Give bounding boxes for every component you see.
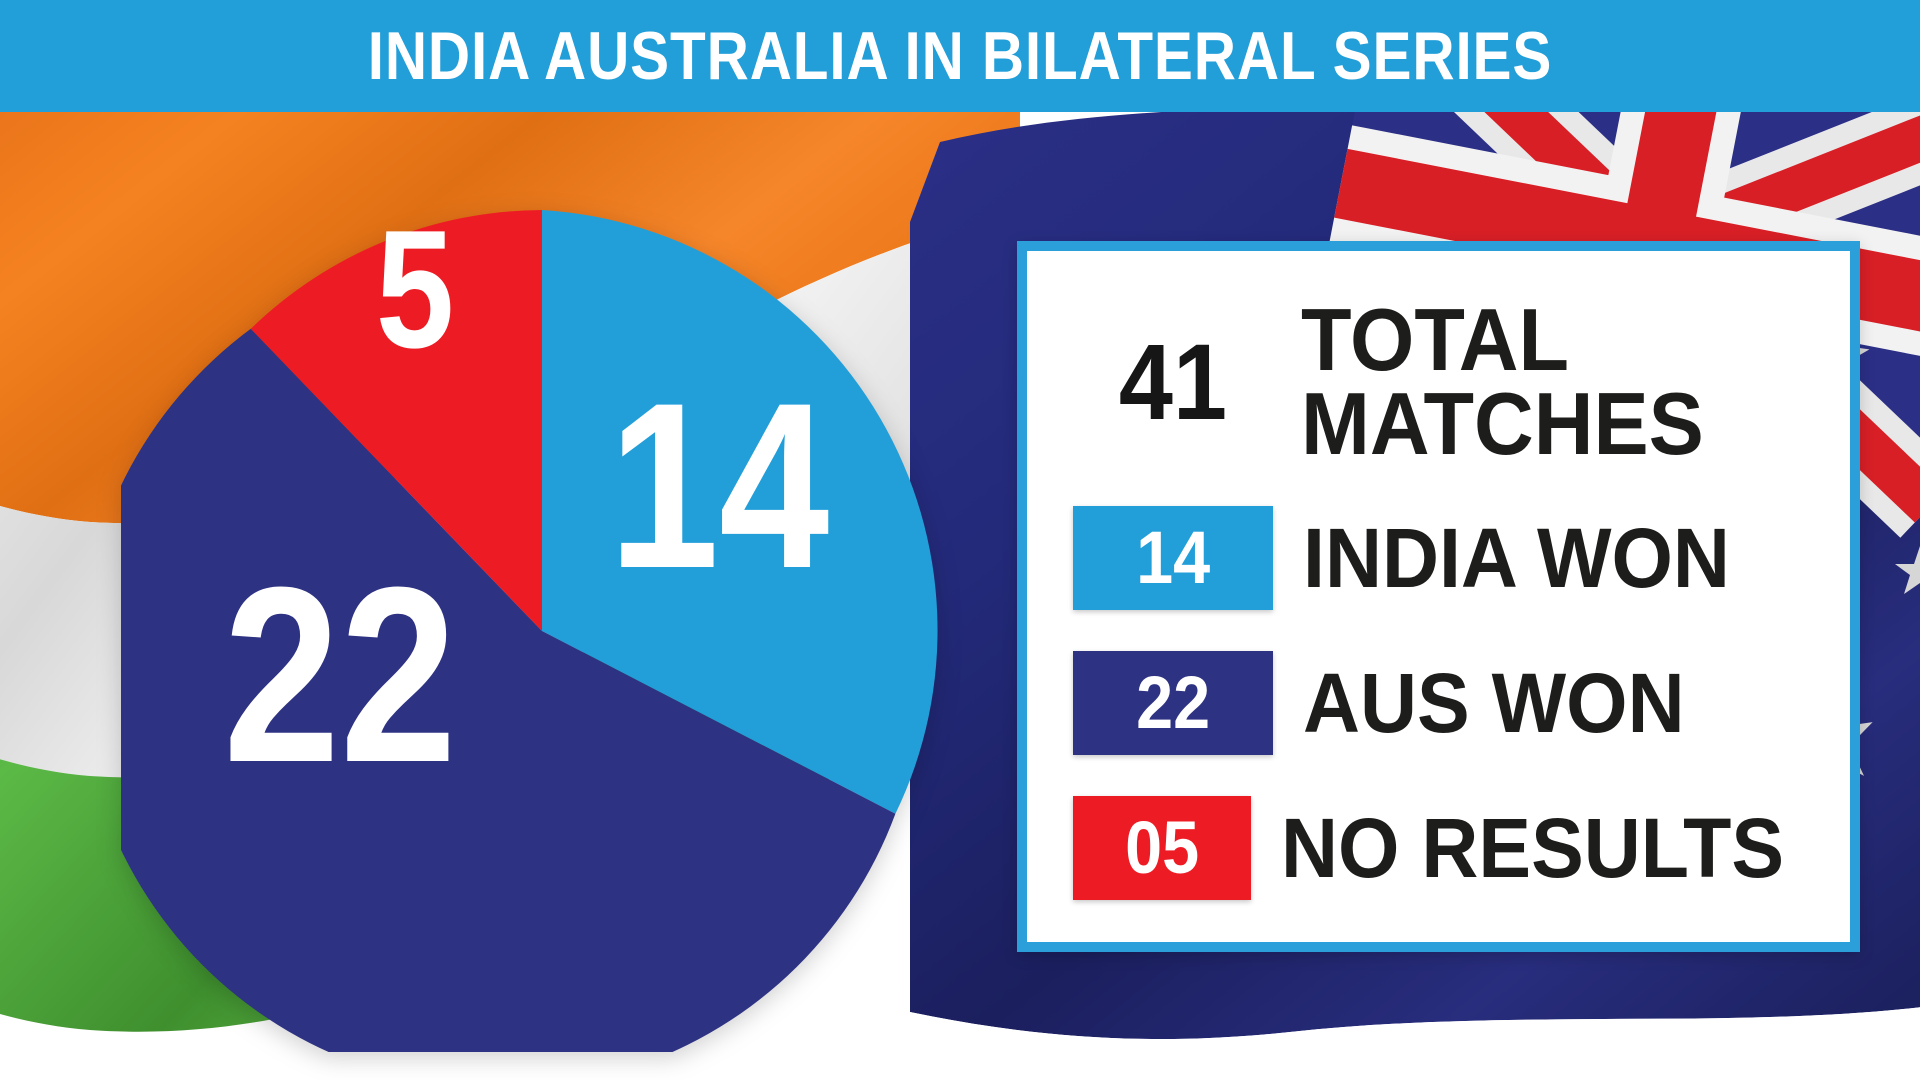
legend-row-no-results: 05 NO RESULTS [1073,775,1816,920]
legend-swatch-aus: 22 [1073,651,1273,755]
total-matches-label-line1: TOTAL [1301,298,1704,382]
page-title: INDIA AUSTRALIA IN BILATERAL SERIES [134,0,1785,112]
infographic-canvas: 14 22 5 41 TOTAL MATCHES 14 INDIA WON 22 [0,0,1920,1080]
legend-swatch-no-results: 05 [1073,796,1251,900]
total-matches-label: TOTAL MATCHES [1301,298,1704,465]
legend-swatch-india: 14 [1073,506,1273,610]
legend-row-india: 14 INDIA WON [1073,486,1816,631]
total-matches-value: 41 [1083,328,1263,436]
header-bar: INDIA AUSTRALIA IN BILATERAL SERIES [0,0,1920,112]
legend-row-aus: 22 AUS WON [1073,631,1816,776]
legend-panel: 41 TOTAL MATCHES 14 INDIA WON 22 AUS WON [1017,241,1860,952]
legend-label-india: INDIA WON [1303,516,1730,600]
legend-row-total: 41 TOTAL MATCHES [1073,277,1816,486]
total-matches-label-line2: MATCHES [1301,382,1704,466]
pie-label-aus: 22 [214,560,466,790]
legend-label-no-results: NO RESULTS [1281,806,1784,890]
pie-label-india: 14 [609,378,827,595]
legend-label-aus: AUS WON [1303,661,1685,745]
legend-value-no-results: 05 [1125,811,1199,885]
pie-label-no-results: 5 [344,212,487,367]
legend-value-aus: 22 [1136,666,1210,740]
legend-value-india: 14 [1136,521,1210,595]
